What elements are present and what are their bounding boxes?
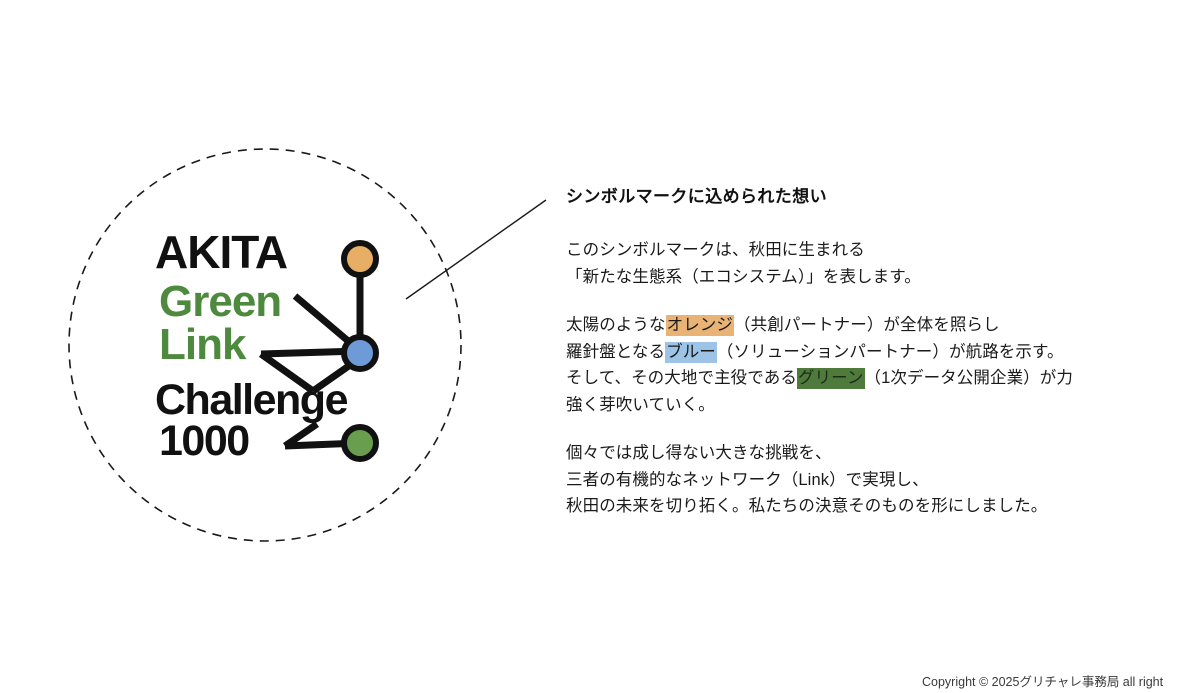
orange-line-prefix: 太陽のような [566,316,666,334]
logo-text-link: Link [159,320,247,369]
orange-line-suffix: （共創パートナー）が全体を照らし [734,316,1000,334]
symbol-heading: シンボルマークに込められた想い [566,186,1156,207]
paragraph-closing-line-1: 個々では成し得ない大きな挑戦を、 [566,440,1156,467]
logo-lockup: AKITA Green Link Challenge 1000 [155,228,395,458]
logo-text-green: Green [159,277,281,326]
green-line-suffix: （1次データ公開企業）が力 [865,369,1073,387]
paragraph-colors-line-1: 太陽のようなオレンジ（共創パートナー）が全体を照らし [566,312,1156,339]
green-highlight: グリーン [797,368,865,389]
green-line-prefix: そして、その大地で主役である [566,369,797,387]
paragraph-colors-line-3: そして、その大地で主役であるグリーン（1次データ公開企業）が力 [566,365,1156,392]
paragraph-colors: 太陽のようなオレンジ（共創パートナー）が全体を照らし 羅針盤となるブルー（ソリュ… [566,312,1156,418]
description-panel: シンボルマークに込められた想い このシンボルマークは、秋田に生まれる 「新たな生… [566,186,1156,520]
slide-canvas: AKITA Green Link Challenge 1000 シンボルマークに… [0,0,1178,693]
logo-text-1000: 1000 [159,417,249,465]
blue-line-prefix: 羅針盤となる [566,343,665,361]
paragraph-closing-line-2: 三者の有機的なネットワーク（Link）で実現し、 [566,467,1156,494]
orange-node-icon [344,243,376,275]
leader-line [406,200,546,299]
paragraph-colors-line-4: 強く芽吹いていく。 [566,392,1156,419]
copyright-text: Copyright © 2025グリチャレ事務局 all right [922,673,1163,691]
blue-line-suffix: （ソリューションパートナー）が航路を示す。 [717,343,1064,361]
green-node-icon [344,427,376,459]
paragraph-closing-line-3: 秋田の未来を切り拓く。私たちの決意そのものを形にしました。 [566,493,1156,520]
paragraph-colors-line-2: 羅針盤となるブルー（ソリューションパートナー）が航路を示す。 [566,339,1156,366]
paragraph-intro-line-1: このシンボルマークは、秋田に生まれる [566,237,1156,264]
logo-zone: AKITA Green Link Challenge 1000 [0,0,540,693]
blue-highlight: ブルー [665,342,717,363]
logo-text-akita: AKITA [155,226,287,278]
blue-node-icon [344,337,376,369]
logo-graphic: AKITA Green Link Challenge 1000 [155,228,395,458]
orange-highlight: オレンジ [666,315,734,336]
paragraph-closing: 個々では成し得ない大きな挑戦を、 三者の有機的なネットワーク（Link）で実現し… [566,440,1156,520]
footer: Copyright © 2025グリチャレ事務局 all right [918,671,1178,693]
paragraph-intro: このシンボルマークは、秋田に生まれる 「新たな生態系（エコシステム）」を表します… [566,237,1156,290]
paragraph-intro-line-2: 「新たな生態系（エコシステム）」を表します。 [566,264,1156,291]
